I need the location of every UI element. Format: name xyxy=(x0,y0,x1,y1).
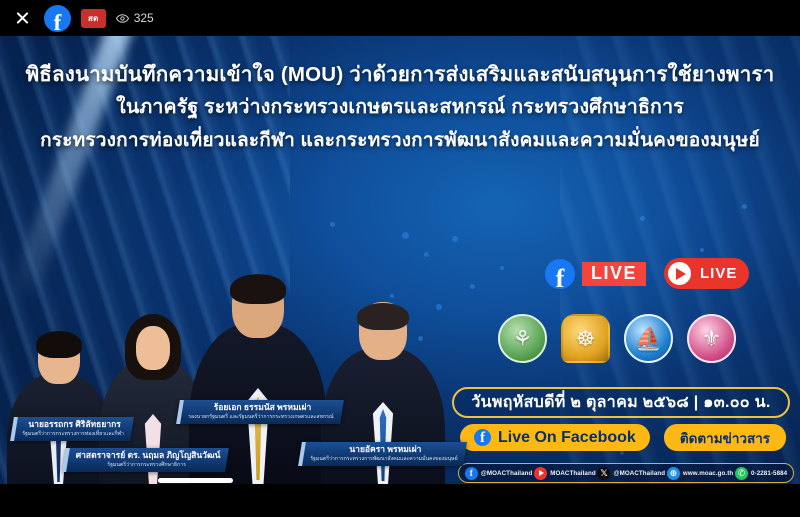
speaker-name: ร้อยเอก ธรรมนัส พรหมเผ่า xyxy=(190,402,336,413)
speaker-nameplate-1: นายอรรถกร ศิริลัทธยากร รัฐมนตรีว่าการกระ… xyxy=(10,417,134,441)
progress-indicator[interactable] xyxy=(158,478,233,483)
player-bottom-bar xyxy=(0,484,800,517)
facebook-f-glyph: f xyxy=(556,266,565,289)
poster-headline: พิธีลงนามบันทึกความเข้าใจ (MOU) ว่าด้วยก… xyxy=(0,58,800,157)
website-icon: ⊕ xyxy=(667,467,680,480)
social-media-strip: f @MOACThailand MOACThailand 𝕏 @MOACThai… xyxy=(458,463,794,483)
ministry-of-social-development-emblem: ⚜ xyxy=(687,314,736,363)
live-on-facebook-button[interactable]: f Live On Facebook xyxy=(460,424,650,451)
social-handle: MOACThailand xyxy=(550,470,596,477)
facebook-live-label: LIVE xyxy=(582,262,646,286)
viewer-count: 325 xyxy=(134,11,154,25)
speaker-name: ศาสตราจารย์ ดร. นฤมล ภิญโญสินวัฒน์ xyxy=(76,450,221,461)
youtube-live-label: LIVE xyxy=(700,265,737,282)
live-stream-poster: พิธีลงนามบันทึกความเข้าใจ (MOU) ว่าด้วยก… xyxy=(0,36,800,484)
social-handle: www.moac.go.th xyxy=(683,470,733,477)
social-handle: 0-2281-5884 xyxy=(751,470,787,477)
event-datetime-pill: วันพฤหัสบดีที่ ๒ ตุลาคม ๒๕๖๘ | ๑๓.๐๐ น. xyxy=(452,387,790,418)
close-icon[interactable] xyxy=(10,6,34,30)
facebook-icon[interactable]: f xyxy=(44,5,71,32)
live-status-badge: สด xyxy=(81,9,106,28)
emblem-glyph: ☸ xyxy=(576,328,596,350)
speaker-nameplate-4: นายอัครา พรหมเผ่า รัฐมนตรีว่าการกระทรวงก… xyxy=(298,442,467,466)
youtube-live-button[interactable]: LIVE xyxy=(664,258,749,289)
ministry-of-education-emblem: ☸ xyxy=(561,314,610,363)
eye-icon xyxy=(116,12,129,25)
facebook-live-button[interactable]: f LIVE xyxy=(545,259,646,289)
social-x-twitter[interactable]: 𝕏 @MOACThailand xyxy=(597,467,665,480)
social-youtube[interactable]: MOACThailand xyxy=(534,467,596,480)
x-twitter-icon: 𝕏 xyxy=(597,467,610,480)
speaker-role: รัฐมนตรีว่าการกระทรวงการพัฒนาสังคมและควา… xyxy=(310,455,457,463)
speaker-role: รองนายกรัฐมนตรี และรัฐมนตรีว่าการกระทรวง… xyxy=(188,413,334,421)
speaker-role: รัฐมนตรีว่าการกระทรวงการท่องเที่ยวและกีฬ… xyxy=(22,430,124,438)
cta-button-row: f Live On Facebook ติดตามข่าวสาร xyxy=(460,424,786,451)
speaker-nameplate-3: ศาสตราจารย์ ดร. นฤมล ภิญโญสินวัฒน์ รัฐมน… xyxy=(62,448,229,472)
emblem-glyph: ⚜ xyxy=(702,328,722,350)
facebook-icon: f xyxy=(545,259,575,289)
headline-line-2: ในภาครัฐ ระหว่างกระทรวงเกษตรและสหกรณ์ กร… xyxy=(8,91,792,124)
facebook-icon: f xyxy=(474,429,491,446)
social-website[interactable]: ⊕ www.moac.go.th xyxy=(667,467,733,480)
follow-news-button[interactable]: ติดตามข่าวสาร xyxy=(664,424,786,451)
social-handle: @MOACThailand xyxy=(481,470,533,477)
speaker-role: รัฐมนตรีว่าการกระทรวงศึกษาธิการ xyxy=(74,461,219,469)
social-line-phone[interactable]: ✆ 0-2281-5884 xyxy=(735,467,787,480)
facebook-icon: f xyxy=(465,467,478,480)
headline-line-3: กระทรวงการท่องเที่ยวและกีฬา และกระทรวงกา… xyxy=(8,124,792,157)
facebook-f-glyph: f xyxy=(54,11,62,32)
play-icon xyxy=(666,260,693,287)
ministry-emblems-row: ⚘ ☸ ⛵ ⚜ xyxy=(498,314,736,363)
social-handle: @MOACThailand xyxy=(613,470,665,477)
speaker-name: นายอรรถกร ศิริลัทธยากร xyxy=(24,419,126,430)
social-facebook[interactable]: f @MOACThailand xyxy=(465,467,533,480)
live-on-facebook-label: Live On Facebook xyxy=(498,429,636,447)
youtube-icon xyxy=(534,467,547,480)
emblem-glyph: ⚘ xyxy=(513,328,533,350)
speaker-name: นายอัครา พรหมเผ่า xyxy=(312,444,459,455)
ministry-of-tourism-and-sports-emblem: ⛵ xyxy=(624,314,673,363)
player-top-bar: f สด 325 xyxy=(0,0,800,36)
emblem-glyph: ⛵ xyxy=(635,328,662,350)
viewer-count-group: 325 xyxy=(116,11,154,25)
ministry-of-agriculture-emblem: ⚘ xyxy=(498,314,547,363)
headline-line-1: พิธีลงนามบันทึกความเข้าใจ (MOU) ว่าด้วยก… xyxy=(8,58,792,91)
video-player-screen: f สด 325 พิธีลงนามบันทึก xyxy=(0,0,800,517)
live-platform-row: f LIVE LIVE xyxy=(545,258,749,289)
line-icon: ✆ xyxy=(735,467,748,480)
follow-news-label: ติดตามข่าวสาร xyxy=(680,427,770,449)
event-datetime: วันพฤหัสบดีที่ ๒ ตุลาคม ๒๕๖๘ | ๑๓.๐๐ น. xyxy=(471,390,770,415)
speaker-nameplate-2: ร้อยเอก ธรรมนัส พรหมเผ่า รองนายกรัฐมนตรี… xyxy=(176,400,343,424)
